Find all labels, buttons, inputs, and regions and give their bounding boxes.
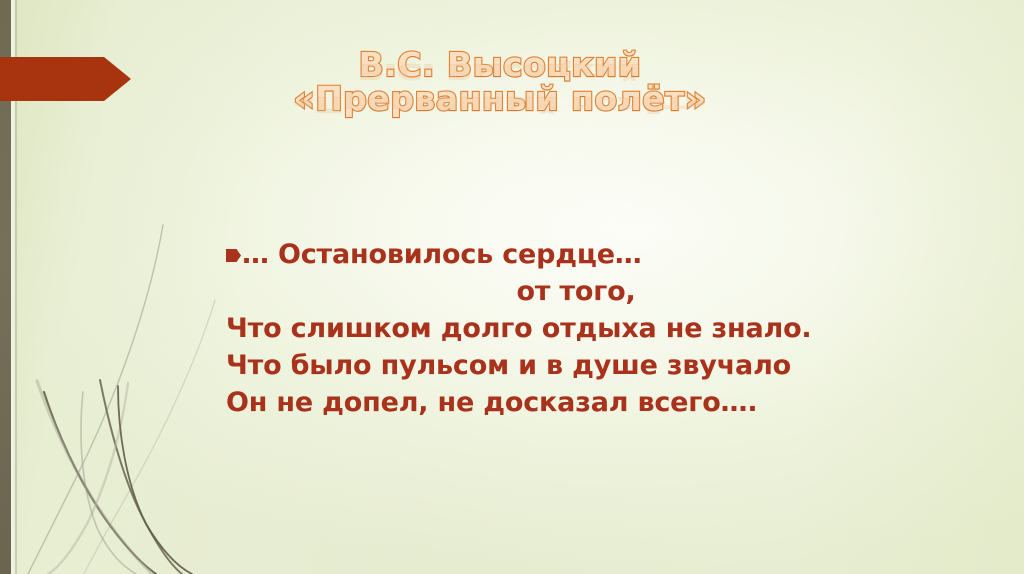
poem-line-3: Что слишком долго отдыха не знало. <box>226 310 926 347</box>
slide-canvas: В.С. Высоцкий «Прерванный полёт» … Остан… <box>0 0 1024 574</box>
poem-line-1-text: … Остановилось сердце… <box>242 239 642 270</box>
slide-title-line-2: «Прерванный полёт» <box>190 82 810 116</box>
arrow-bullet-icon <box>226 249 241 262</box>
poem-line-4: Что было пульсом и в душе звучало <box>226 347 926 384</box>
poem-line-1: … Остановилось сердце… <box>226 236 926 273</box>
poem-text-block: … Остановилось сердце… от того, Что слиш… <box>226 236 926 421</box>
arrow-banner-shape <box>0 57 131 101</box>
slide-title-line-1: В.С. Высоцкий <box>190 48 810 82</box>
poem-line-5: Он не допел, не досказал всего…. <box>226 384 926 421</box>
slide-title: В.С. Высоцкий «Прерванный полёт» <box>190 48 810 115</box>
poem-line-2: от того, <box>226 273 926 310</box>
